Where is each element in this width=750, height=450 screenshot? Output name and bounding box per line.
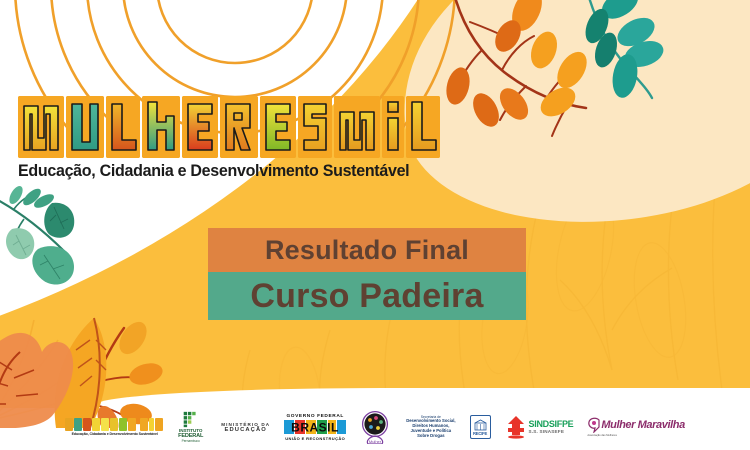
recife-label: RECIFE: [473, 431, 487, 436]
footer-logo-instituto-federal: INSTITUTO FEDERAL Pernambuco: [178, 411, 203, 443]
logo-letter-l-2: [406, 96, 440, 158]
footer-logo-prefeitura-recife: RECIFE: [470, 415, 491, 439]
footer-logo-sindsifpe: SINDSIFPE S.S. SINASEFE: [505, 415, 574, 439]
footer-logo-mulher-maravilha: Mulher Maravilha Associação das Mulheres: [587, 417, 684, 437]
mulher-maravilha-swirl-icon: [587, 417, 601, 433]
headline-line2: Curso Padeira: [250, 277, 483, 316]
footer-logo-ministerio-educacao: MINISTÉRIO DA EDUCAÇÃO: [221, 422, 270, 433]
governo-federal-line3: UNIÃO E RECONSTRUÇÃO: [285, 436, 345, 441]
mulher-seal-label: Mulher: [369, 439, 382, 444]
instituto-federal-mark: [182, 411, 199, 428]
mulheres-mil-logo: Educação, Cidadania e Desenvolvimento Su…: [18, 96, 418, 181]
mini-lettermark: [65, 418, 164, 431]
footer-logo-secretaria: Secretaria de Desenvolvimento Social, Di…: [406, 415, 455, 439]
logo-letter-r: [220, 96, 258, 158]
instituto-federal-line3: Pernambuco: [178, 440, 203, 443]
footer-logo-mulheres-mil: Educação, Cidadania e Desenvolvimento Su…: [65, 418, 164, 436]
mulher-maravilha-subtitle: Associação das Mulheres: [587, 434, 617, 437]
logo-letter-m-2: [334, 96, 380, 158]
leaf-branch-decoration-top-right: [430, 0, 730, 152]
headline-line1: Resultado Final: [265, 235, 469, 266]
recife-crest-icon: [474, 419, 487, 431]
logo-letter-u: [66, 96, 104, 158]
sindsifpe-arrow-icon: [505, 415, 527, 439]
logo-letter-i: [382, 96, 404, 158]
mulheres-mil-lettermark: [18, 96, 418, 158]
mulheres-mil-tagline: Educação, Cidadania e Desenvolvimento Su…: [18, 162, 406, 181]
logo-letter-s: [298, 96, 332, 158]
logo-letter-h: [142, 96, 180, 158]
sindsifpe-line2: S.S. SINASEFE: [529, 429, 574, 434]
logo-letter-e-1: [182, 96, 218, 158]
brasil-wordmark: BRASIL: [284, 419, 346, 435]
mulher-seal-mark: Mulher: [360, 410, 390, 444]
headline-band-resultado-final: Resultado Final: [208, 228, 526, 272]
headline-band-curso-padeira: Curso Padeira: [208, 272, 526, 320]
logo-letter-l: [106, 96, 140, 158]
footer-logo-strip: Educação, Cidadania e Desenvolvimento Su…: [0, 404, 750, 450]
footer-logo-mulher-seal: Mulher: [360, 410, 390, 444]
mulher-maravilha-title: Mulher Maravilha: [601, 420, 684, 431]
mini-tagline: Educação, Cidadania e Desenvolvimento Su…: [72, 432, 158, 436]
poster-canvas: Educação, Cidadania e Desenvolvimento Su…: [0, 0, 750, 450]
sindsifpe-line1: SINDSIFPE: [529, 420, 574, 429]
logo-letter-e-2: [260, 96, 296, 158]
footer-logo-governo-federal: GOVERNO FEDERAL BRASIL UNIÃO E RECONSTRU…: [284, 414, 346, 441]
secretaria-line4: Sobre Drogas: [417, 434, 444, 439]
svg-text:BRASIL: BRASIL: [291, 420, 339, 434]
ministerio-line2: EDUCAÇÃO: [225, 427, 267, 433]
logo-letter-m: [18, 96, 64, 158]
